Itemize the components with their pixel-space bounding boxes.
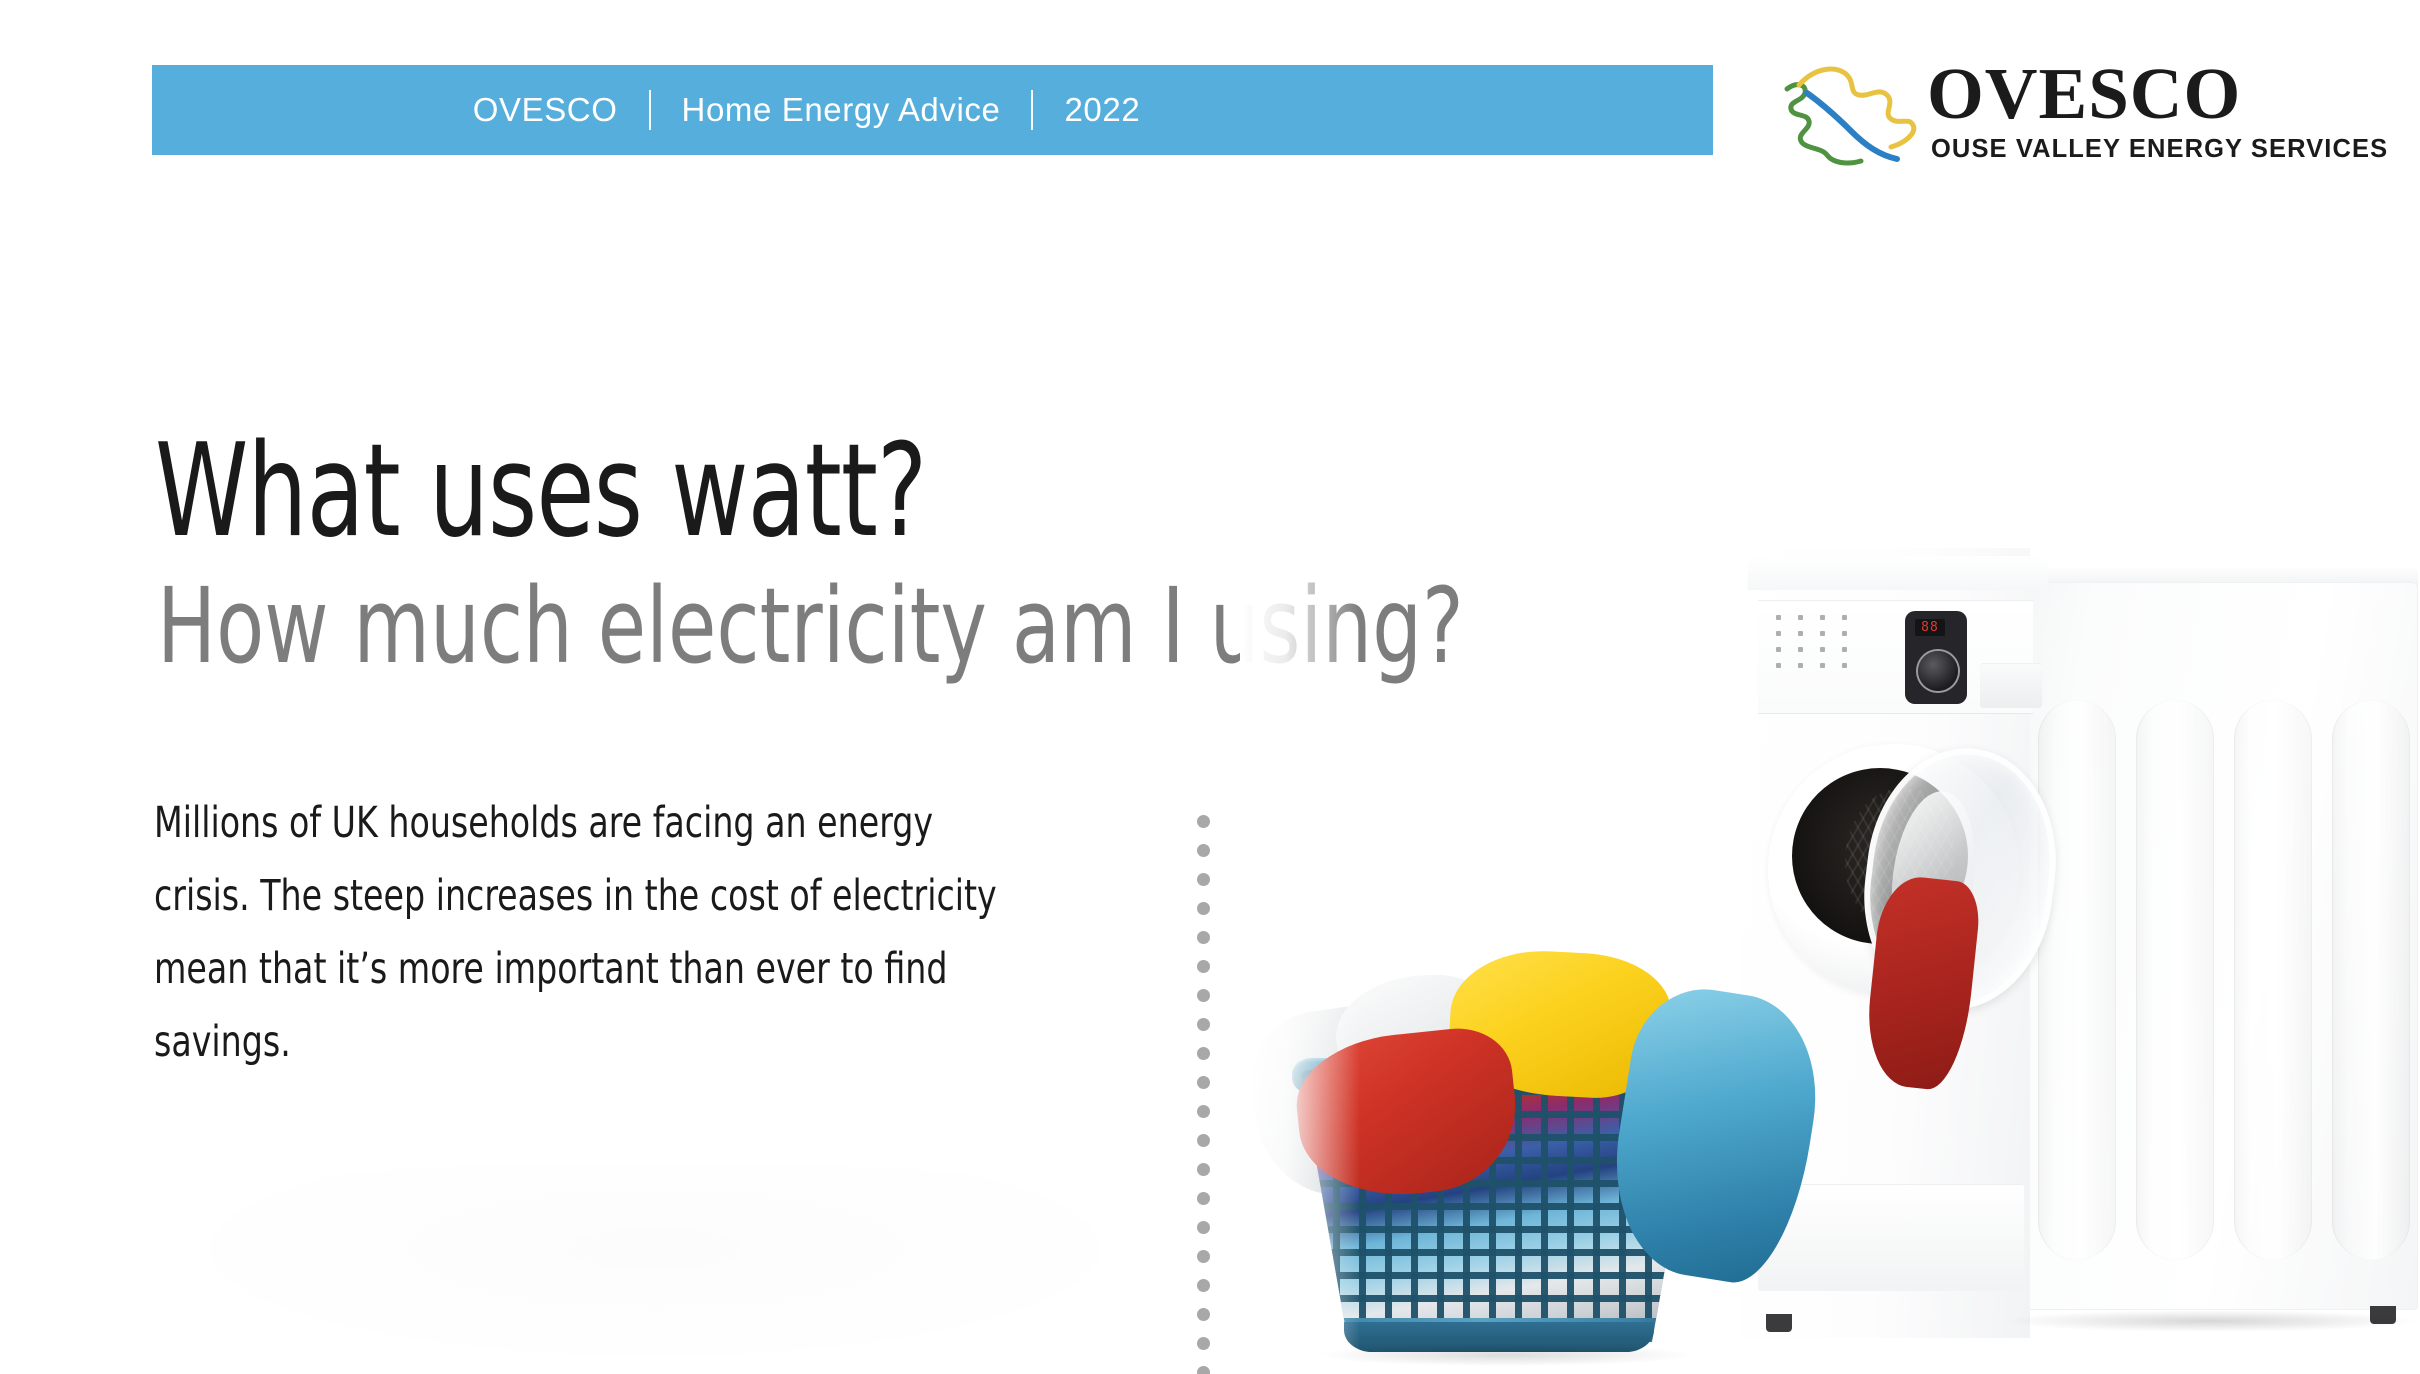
intro-paragraph: Millions of UK households are facing an … <box>154 787 1014 1079</box>
control-panel: 88 <box>1758 600 2033 714</box>
header-separator-2 <box>1031 90 1033 130</box>
divider-dot <box>1197 1308 1210 1321</box>
washing-machine-illustration: 88 <box>1730 530 2420 1330</box>
side-rib <box>2332 700 2410 1260</box>
divider-dot <box>1197 1134 1210 1147</box>
divider-dot <box>1197 844 1210 857</box>
divider-dot <box>1197 960 1210 973</box>
logo-wordmark: OVESCO <box>1927 57 2241 130</box>
divider-dot <box>1197 1337 1210 1350</box>
header-bar: OVESCO Home Energy Advice 2022 <box>152 65 1713 155</box>
header-section: Home Energy Advice <box>682 91 1001 129</box>
divider-dot <box>1197 989 1210 1002</box>
divider-dot <box>1197 902 1210 915</box>
divider-dot <box>1197 1250 1210 1263</box>
divider-dot <box>1197 1366 1210 1374</box>
program-dial[interactable] <box>1918 651 1958 691</box>
divider-dot <box>1197 815 1210 828</box>
side-rib <box>2038 700 2116 1260</box>
washing-machine-lid <box>1747 556 2049 590</box>
machine-shadow <box>2000 1310 2420 1332</box>
header-breadcrumb: OVESCO Home Energy Advice 2022 <box>473 90 1141 130</box>
side-rib <box>2234 700 2312 1260</box>
divider-dot <box>1197 1047 1210 1060</box>
page-title: What uses watt? <box>155 428 926 556</box>
background-ghost-image <box>130 1165 1180 1374</box>
divider-dot <box>1197 1076 1210 1089</box>
ouse-valley-leaf-river-mark-icon <box>1775 55 1925 167</box>
logo-tagline: OUSE VALLEY ENERGY SERVICES <box>1931 135 2388 164</box>
divider-dot <box>1197 1018 1210 1031</box>
header-brand: OVESCO <box>473 91 618 129</box>
divider-dot <box>1197 1279 1210 1292</box>
program-markings <box>1776 615 1896 695</box>
divider-dot <box>1197 1105 1210 1118</box>
control-panel-display-module[interactable]: 88 <box>1905 611 1967 704</box>
divider-dot <box>1197 1192 1210 1205</box>
side-rib <box>2136 700 2214 1260</box>
poster-page: OVESCO Home Energy Advice 2022 OVESCO OU… <box>0 0 2420 1374</box>
washing-machine-side-panel <box>1998 582 2418 1310</box>
divider-dot <box>1197 873 1210 886</box>
header-separator-1 <box>649 90 651 130</box>
page-subtitle: How much electricity am I using? <box>157 574 1464 678</box>
basket-shadow <box>1318 1344 1690 1366</box>
digital-display: 88 <box>1915 619 1945 636</box>
detergent-drawer-handle[interactable] <box>1980 663 2042 708</box>
ovesco-logo: OVESCO OUSE VALLEY ENERGY SERVICES <box>1775 45 2295 170</box>
divider-dot <box>1197 931 1210 944</box>
laundry-basket-illustration <box>1240 940 1810 1374</box>
divider-dot <box>1197 1163 1210 1176</box>
header-year: 2022 <box>1064 91 1140 129</box>
divider-dot <box>1197 1221 1210 1234</box>
dotted-vertical-divider <box>1197 815 1211 1374</box>
